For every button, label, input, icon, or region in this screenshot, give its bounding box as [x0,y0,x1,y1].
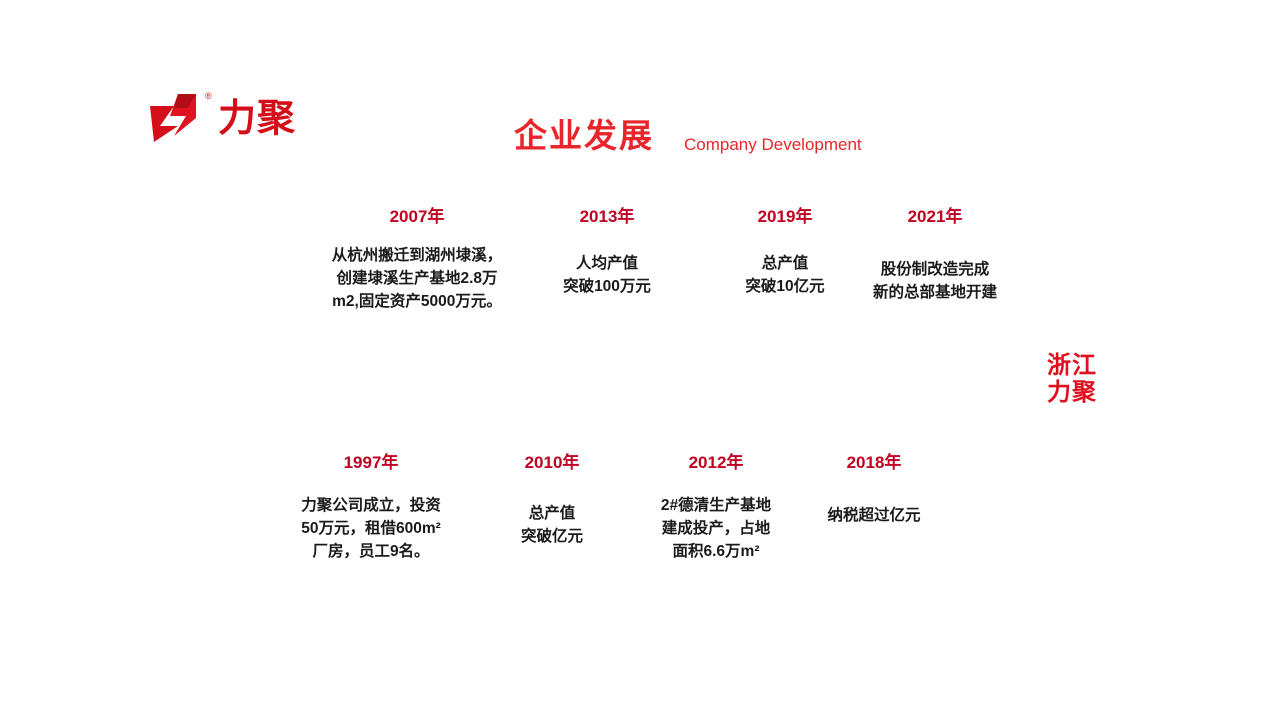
milestone-2013[interactable]: 2013年 人均产值 突破100万元 [532,206,682,298]
milestone-description: 从杭州搬迁到湖州埭溪， 创建埭溪生产基地2.8万 m2,固定资产5000万元。 [307,244,527,313]
timeline-end-label: 浙江 力聚 [1047,352,1157,406]
milestone-line: 50万元，租借600m² [268,517,474,540]
milestone-year-label: 2013年 [532,206,682,228]
milestone-year-label: 2007年 [307,206,527,228]
milestone-line: 厂房，员工9名。 [268,540,474,563]
milestone-year-label: 2018年 [790,452,958,474]
milestone-line: 人均产值 [532,252,682,275]
milestone-line: 突破亿元 [482,525,622,548]
milestone-description: 总产值 突破亿元 [482,502,622,548]
milestone-line: 从杭州搬迁到湖州埭溪， [307,244,527,267]
milestone-line: 突破100万元 [532,275,682,298]
milestone-description: 总产值 突破10亿元 [710,252,860,298]
milestone-2007[interactable]: 2007年 从杭州搬迁到湖州埭溪， 创建埭溪生产基地2.8万 m2,固定资产50… [307,206,527,313]
milestone-line: 股份制改造完成 [855,258,1015,281]
milestone-line: 总产值 [710,252,860,275]
milestone-2010[interactable]: 2010年 总产值 突破亿元 [482,452,622,548]
end-label-line: 浙江 [1047,352,1157,379]
slide-canvas: ® 力聚 企业发展 Company Development [0,0,1280,720]
milestone-1997[interactable]: 1997年 力聚公司成立，投资 50万元，租借600m² 厂房，员工9名。 [268,452,474,563]
milestone-line: 总产值 [482,502,622,525]
milestone-2019[interactable]: 2019年 总产值 突破10亿元 [710,206,860,298]
milestone-description: 人均产值 突破100万元 [532,252,682,298]
milestone-year-label: 2012年 [640,452,792,474]
milestone-line: 创建埭溪生产基地2.8万 [307,267,527,290]
milestone-2021[interactable]: 2021年 股份制改造完成 新的总部基地开建 [855,206,1015,304]
milestone-year-label: 2021年 [855,206,1015,228]
milestone-description: 2#德清生产基地 建成投产，占地 面积6.6万m² [640,494,792,563]
milestone-line: 突破10亿元 [710,275,860,298]
milestone-line: 面积6.6万m² [640,540,792,563]
milestone-year-label: 1997年 [268,452,474,474]
milestone-line: 纳税超过亿元 [790,504,958,527]
milestone-description: 力聚公司成立，投资 50万元，租借600m² 厂房，员工9名。 [268,494,474,563]
milestone-line: 新的总部基地开建 [855,281,1015,304]
milestone-description: 纳税超过亿元 [790,504,958,527]
milestone-2012[interactable]: 2012年 2#德清生产基地 建成投产，占地 面积6.6万m² [640,452,792,563]
milestone-description: 股份制改造完成 新的总部基地开建 [855,258,1015,304]
milestone-line: 建成投产，占地 [640,517,792,540]
milestone-line: m2,固定资产5000万元。 [307,290,527,313]
milestone-line: 力聚公司成立，投资 [268,494,474,517]
milestone-year-label: 2010年 [482,452,622,474]
end-label-line: 力聚 [1047,379,1157,406]
milestone-line: 2#德清生产基地 [640,494,792,517]
milestone-2018[interactable]: 2018年 纳税超过亿元 [790,452,958,527]
milestone-year-label: 2019年 [710,206,860,228]
